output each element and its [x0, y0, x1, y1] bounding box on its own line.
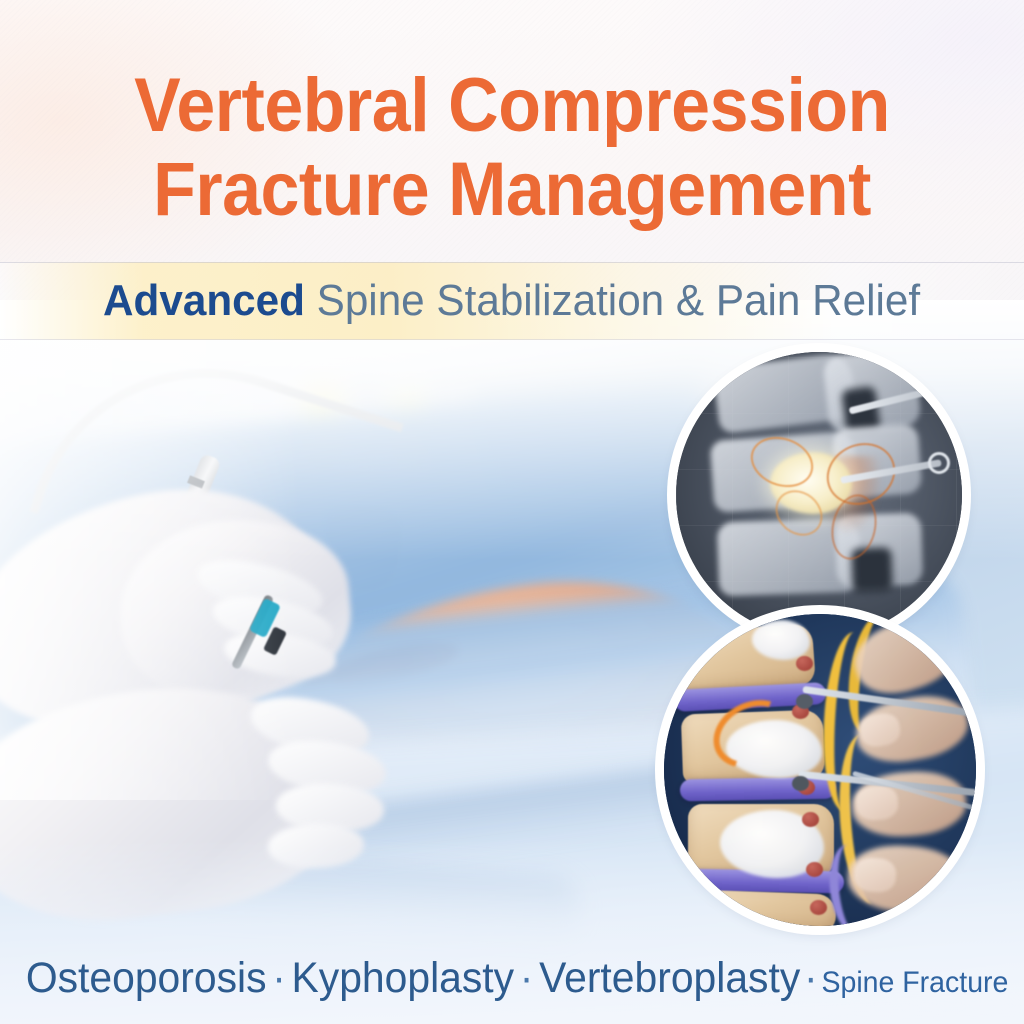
- subtitle-rule-bottom: [0, 339, 1024, 340]
- nerve-ganglion: [802, 812, 819, 827]
- keyword-osteoporosis: Osteoporosis: [26, 954, 267, 1002]
- bone-cement-deposit: [752, 620, 810, 660]
- keyword-separator: ·: [267, 954, 292, 1002]
- subtitle-rule-top: [0, 262, 1024, 263]
- trocar-needle-tip: [792, 776, 809, 791]
- trocar-needle-tip: [796, 694, 813, 709]
- fingernail: [853, 857, 897, 894]
- keyword-spine-fracture: Spine Fracture: [821, 966, 1008, 999]
- photo-left-fade: [0, 300, 300, 800]
- title-line-2: Fracture Management: [41, 148, 983, 232]
- title-line-1: Vertebral Compression: [41, 64, 983, 148]
- keyword-kyphoplasty: Kyphoplasty: [292, 954, 515, 1002]
- subtitle-rest: Spine Stabilization & Pain Relief: [305, 276, 920, 325]
- trocar-needle-hub: [932, 384, 954, 406]
- keyword-vertebroplasty: Vertebroplasty: [539, 954, 800, 1002]
- xray-inset: [676, 352, 962, 638]
- page-subtitle: Advanced Spine Stabilization & Pain Reli…: [0, 275, 1024, 327]
- poster-root: Vertebral Compression Fracture Managemen…: [0, 0, 1024, 1024]
- keyword-list: Osteoporosis·Kyphoplasty·Vertebroplasty·…: [26, 952, 1009, 1009]
- anatomy-inset: [664, 614, 976, 926]
- keyword-bar: Osteoporosis·Kyphoplasty·Vertebroplasty·…: [0, 952, 1024, 1009]
- nerve-ganglion: [796, 656, 813, 671]
- subtitle-emphasis: Advanced: [103, 276, 305, 325]
- nerve-ganglion: [806, 862, 823, 877]
- keyword-separator: ·: [514, 954, 539, 1002]
- page-title: Vertebral Compression Fracture Managemen…: [0, 64, 1024, 232]
- nerve-ganglion: [810, 900, 827, 915]
- keyword-separator: ·: [800, 954, 821, 1002]
- trocar-needle-hub: [928, 452, 950, 474]
